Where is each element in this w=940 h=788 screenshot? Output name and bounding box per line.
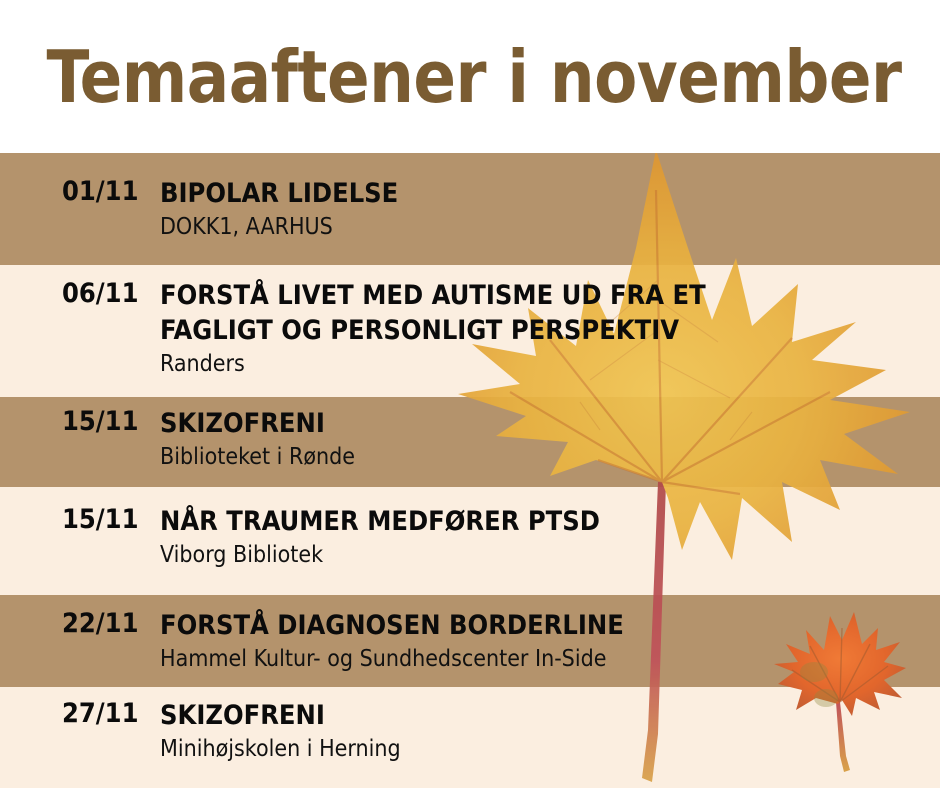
event-date: 01/11 (0, 176, 160, 243)
event-info: NÅR TRAUMER MEDFØRER PTSD Viborg Bibliot… (160, 504, 940, 571)
event-row: 27/11 SKIZOFRENI Minihøjskolen i Herning (0, 698, 940, 765)
event-venue: Hammel Kultur- og Sundhedscenter In-Side (160, 645, 930, 675)
event-row: 15/11 NÅR TRAUMER MEDFØRER PTSD Viborg B… (0, 504, 940, 571)
event-info: SKIZOFRENI Biblioteket i Rønde (160, 406, 940, 473)
event-venue: Viborg Bibliotek (160, 541, 930, 571)
poster-canvas: Temaaftener i november 01/11 BIPOLAR LID… (0, 0, 940, 788)
event-date: 06/11 (0, 278, 160, 380)
event-title: FORSTÅ DIAGNOSEN BORDERLINE (160, 608, 800, 643)
page-title: Temaaftener i november (0, 41, 902, 113)
event-title: SKIZOFRENI (160, 406, 800, 441)
event-date: 22/11 (0, 608, 160, 675)
event-venue: Randers (160, 350, 930, 380)
event-venue: DOKK1, AARHUS (160, 213, 930, 243)
event-date: 15/11 (0, 406, 160, 473)
event-info: FORSTÅ LIVET MED AUTISME UD FRA ET FAGLI… (160, 278, 940, 380)
event-info: BIPOLAR LIDELSE DOKK1, AARHUS (160, 176, 940, 243)
event-title: BIPOLAR LIDELSE (160, 176, 800, 211)
event-venue: Biblioteket i Rønde (160, 443, 930, 473)
event-row: 15/11 SKIZOFRENI Biblioteket i Rønde (0, 406, 940, 473)
event-venue: Minihøjskolen i Herning (160, 735, 930, 765)
event-row: 01/11 BIPOLAR LIDELSE DOKK1, AARHUS (0, 176, 940, 243)
event-date: 27/11 (0, 698, 160, 765)
event-info: FORSTÅ DIAGNOSEN BORDERLINE Hammel Kultu… (160, 608, 940, 675)
event-date: 15/11 (0, 504, 160, 571)
event-title: FORSTÅ LIVET MED AUTISME UD FRA ET FAGLI… (160, 278, 800, 348)
event-row: 06/11 FORSTÅ LIVET MED AUTISME UD FRA ET… (0, 278, 940, 380)
event-title: SKIZOFRENI (160, 698, 800, 733)
event-title: NÅR TRAUMER MEDFØRER PTSD (160, 504, 800, 539)
event-info: SKIZOFRENI Minihøjskolen i Herning (160, 698, 940, 765)
event-row: 22/11 FORSTÅ DIAGNOSEN BORDERLINE Hammel… (0, 608, 940, 675)
title-banner: Temaaftener i november (0, 0, 940, 153)
